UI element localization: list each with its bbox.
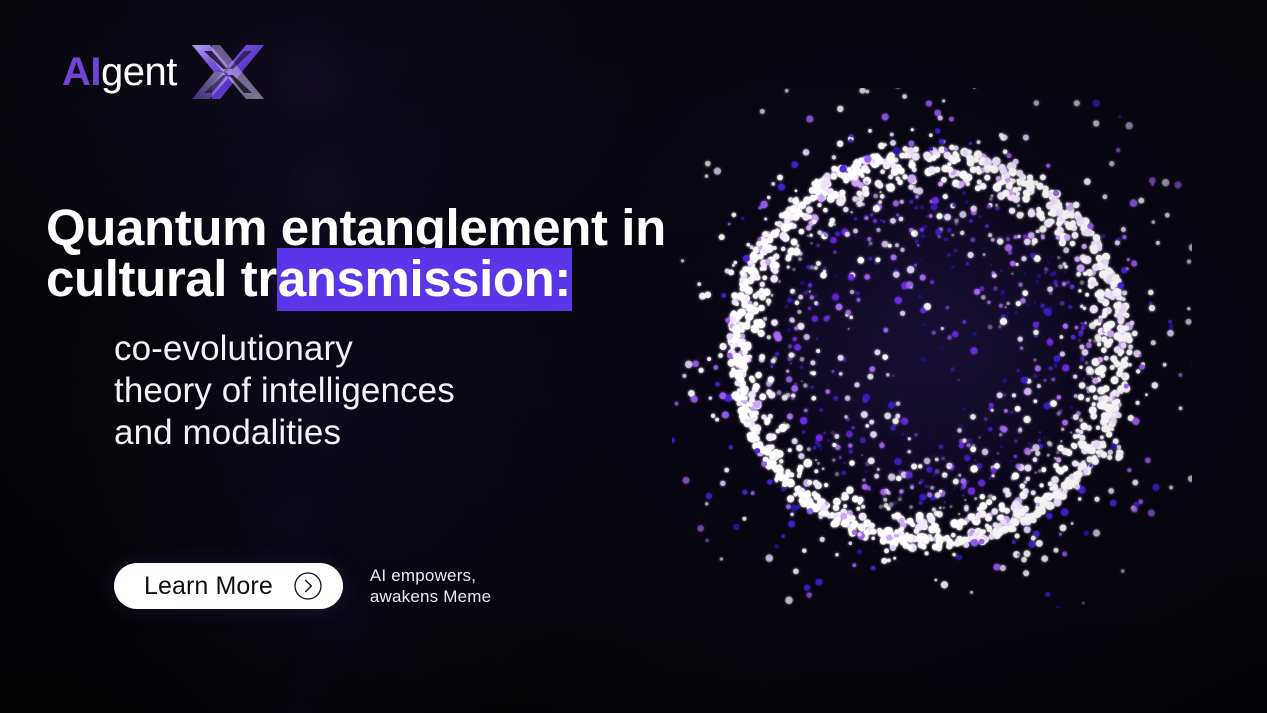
hero-banner: AIgent bbox=[0, 0, 1267, 713]
hero-tagline: AI empowers, awakens Meme bbox=[370, 565, 491, 607]
brand-name-accent: AI bbox=[62, 50, 101, 94]
subhead-line-3: and modalities bbox=[114, 412, 455, 454]
subhead-line-2: theory of intelligences bbox=[114, 370, 455, 412]
brand-logo[interactable]: AIgent bbox=[62, 42, 266, 102]
tagline-line-1: AI empowers, bbox=[370, 565, 491, 586]
brand-wordmark: AIgent bbox=[62, 52, 177, 92]
subhead-line-1: co-evolutionary bbox=[114, 328, 455, 370]
brand-name-rest: gent bbox=[101, 50, 177, 94]
headline-line-1: Quantum entanglement in bbox=[46, 202, 746, 253]
learn-more-button[interactable]: Learn More bbox=[114, 563, 343, 609]
x-mark-icon bbox=[190, 41, 266, 103]
learn-more-label: Learn More bbox=[144, 572, 273, 601]
tagline-line-2: awakens Meme bbox=[370, 586, 491, 607]
hero-subhead: co-evolutionary theory of intelligences … bbox=[114, 328, 455, 454]
cta-row: Learn More AI empowers, awakens Meme bbox=[114, 563, 491, 609]
headline-line-2: cultural transmission: bbox=[46, 253, 746, 304]
headline-line-2-prefix: cultural tr bbox=[46, 250, 277, 307]
headline-highlight: ansmission: bbox=[277, 248, 572, 311]
hero-headline: Quantum entanglement in cultural transmi… bbox=[46, 202, 746, 304]
chevron-right-circle-icon bbox=[293, 571, 323, 601]
